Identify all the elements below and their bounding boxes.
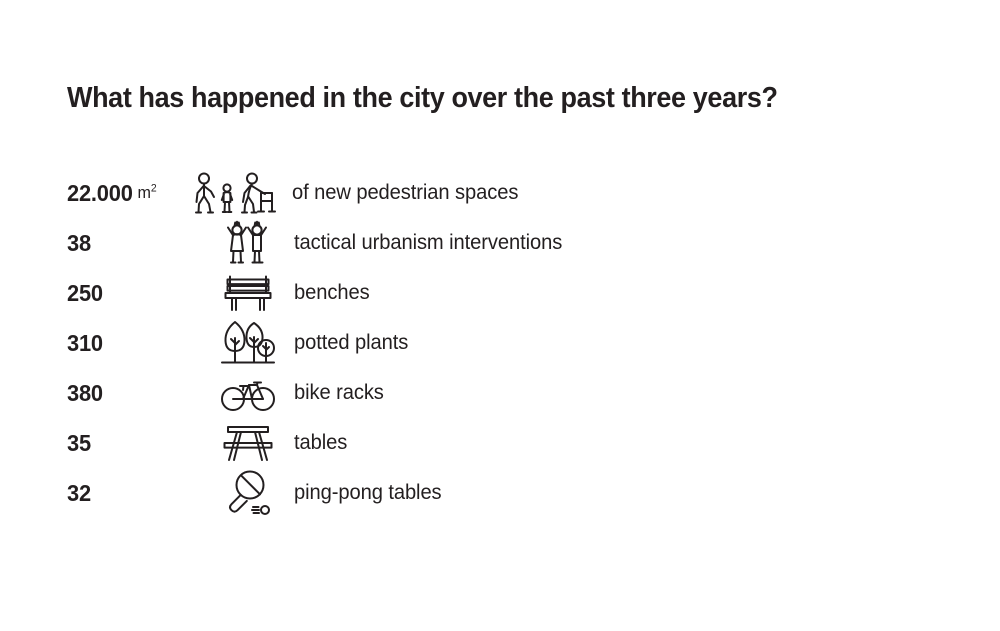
stat-label: of new pedestrian spaces [292,168,518,218]
stat-label: tables [294,418,347,468]
stat-label: tactical urbanism interventions [294,218,562,268]
stat-number: 22.000 [67,180,133,207]
bench-icon [196,268,300,318]
stat-label: bike racks [294,368,384,418]
list-item: 32 [0,468,1000,518]
bicycle-icon [196,368,300,418]
stat-unit: m2 [137,183,156,203]
stats-list: 22.000m2 [0,168,1000,518]
stat-value: 35 [67,418,91,468]
stat-number: 38 [67,230,91,257]
stat-label: potted plants [294,318,408,368]
trees-icon [196,318,300,368]
list-item: 22.000m2 [0,168,1000,218]
stat-number: 35 [67,430,91,457]
people-celebrating-icon [196,218,300,268]
list-item: 380 [0,368,1000,418]
stat-value: 22.000m2 [67,168,157,218]
stat-value: 380 [67,368,103,418]
stat-value: 250 [67,268,103,318]
stat-value: 310 [67,318,103,368]
page-title: What has happened in the city over the p… [67,82,778,115]
pedestrians-icon [190,168,298,218]
list-item: 250 [0,268,1000,318]
list-item: 35 tables [0,418,1000,468]
list-item: 310 potted plants [0,318,1000,368]
stat-label: ping-pong tables [294,468,442,518]
stat-label: benches [294,268,370,318]
list-item: 38 [0,218,1000,268]
picnic-table-icon [196,418,300,468]
stat-number: 380 [67,380,103,407]
stat-number: 32 [67,480,91,507]
stat-number: 250 [67,280,103,307]
stat-value: 32 [67,468,91,518]
stat-number: 310 [67,330,103,357]
stat-value: 38 [67,218,91,268]
ping-pong-paddle-icon [196,468,300,518]
infographic-page: What has happened in the city over the p… [0,0,1000,631]
